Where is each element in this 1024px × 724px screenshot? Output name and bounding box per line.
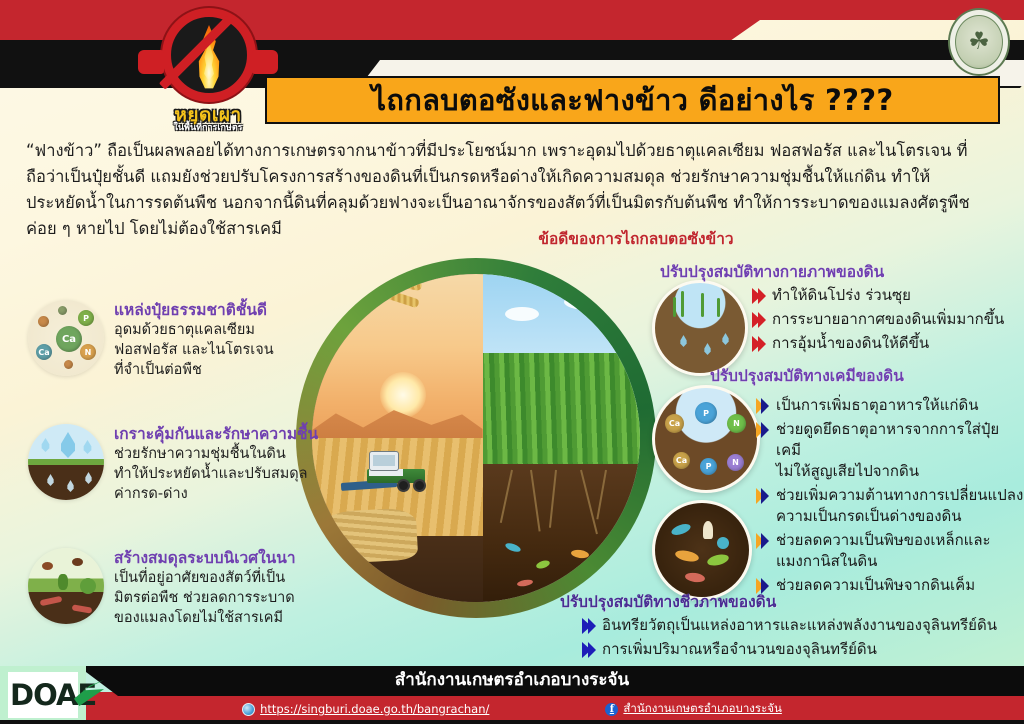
feature-line: เป็นที่อยู่อาศัยของสัตว์ที่เป็น <box>114 568 334 588</box>
page-title: ไถกลบตอซังและฟางข้าว ดีอย่างไร ???? <box>371 77 893 123</box>
earthworm-icon <box>40 596 63 606</box>
harvester-window <box>373 455 395 466</box>
nutrient-n-icon: N <box>727 454 744 471</box>
harvest-scene <box>312 274 483 602</box>
microbe-icon <box>517 579 534 588</box>
feature-text-block: เกราะคุ้มกันและรักษาความชื้น ช่วยรักษาคว… <box>114 424 334 504</box>
footer-facebook-link[interactable]: f สำนักงานเกษตรอำเภอบางระจัน <box>605 700 781 718</box>
arrow-right-icon <box>752 312 765 328</box>
molecule-p: P <box>78 310 94 326</box>
feature-text-block: แหล่งปุ๋ยธรรมชาติชั้นดี อุดมด้วยธาตุแคลเ… <box>114 300 334 380</box>
bullet-item: เป็นการเพิ่มธาตุอาหารให้แก่ดิน <box>756 395 1024 416</box>
garuda-emblem-icon: ☘ <box>968 29 990 53</box>
section-title: ปรับปรุงสมบัติทางกายภาพของดิน <box>660 262 1022 282</box>
title-plate: ไถกลบตอซังและฟางข้าว ดีอย่างไร ???? <box>265 76 1000 124</box>
footer-links: https://singburi.doae.go.th/bangrachan/ … <box>0 696 1024 722</box>
arrow-right-icon <box>752 336 765 352</box>
bacteria-icon <box>684 572 705 584</box>
molecule-node <box>38 316 49 327</box>
hand-right-icon <box>252 50 278 74</box>
arrow-right-icon <box>752 288 765 304</box>
root <box>500 470 513 523</box>
globe-icon <box>242 703 255 716</box>
water-droplet-icon <box>40 438 51 452</box>
arrow-right-icon <box>756 398 769 414</box>
bullet-label: ความเป็นกรดเป็นด่างของดิน <box>776 506 962 527</box>
no-burning-icon <box>162 8 256 102</box>
hand-left-icon <box>138 50 164 74</box>
bacteria-icon <box>706 552 730 567</box>
bullet-label: ทำให้ดินโปร่ง ร่วนซุย <box>772 285 911 306</box>
footer-office-name: สำนักงานเกษตรอำเภอบางระจัน <box>0 666 1024 694</box>
feature-line: มิตรต่อพืช ช่วยลดการระบาด <box>114 588 334 608</box>
bullet-item: ช่วยเพิ่มความต้านทางการเปลี่ยนแปลง <box>756 485 1024 506</box>
bullet-item-continued: แมงกานิสในดิน <box>756 551 1024 572</box>
plant-icon <box>58 574 68 590</box>
bullet-item: ทำให้ดินโปร่ง ร่วนซุย <box>752 285 1022 306</box>
molecule-node <box>64 360 73 369</box>
molecule-ca: Ca <box>56 326 82 352</box>
bullet-label: ไม่ให้สูญเสียไปจากดิน <box>776 461 919 482</box>
ecosystem-insects-icon <box>28 548 104 624</box>
bullet-item: การระบายอากาศของดินเพิ่มมากขึ้น <box>752 309 1022 330</box>
rice-ear <box>346 263 402 274</box>
feature-title: เกราะคุ้มกันและรักษาความชื้น <box>114 424 334 444</box>
nutrient-p-icon: P <box>700 458 717 475</box>
bullet-label: แมงกานิสในดิน <box>776 551 877 572</box>
insect-icon <box>72 558 83 566</box>
arrow-right-icon <box>582 618 595 634</box>
bacteria-icon <box>670 522 692 537</box>
microbe-icon <box>535 559 550 570</box>
bullet-list: ทำให้ดินโปร่ง ร่วนซุย การระบายอากาศของดิ… <box>752 285 1022 354</box>
water-droplet-soil-icon <box>28 424 104 500</box>
arrow-right-icon <box>756 422 769 438</box>
feature-line: ช่วยรักษาความชุ่มชื้นในดิน <box>114 444 334 464</box>
feature-line: อุดมด้วยธาตุแคลเซียม <box>114 320 334 340</box>
footer: DOAE สำนักงานเกษตรอำเภอบางระจัน https://… <box>0 666 1024 724</box>
section-soil-physical: ปรับปรุงสมบัติทางกายภาพของดิน ทำให้ดินโป… <box>660 262 1022 354</box>
bullet-item: อินทรียวัตถุเป็นแหล่งอาหารและแหล่งพลังงา… <box>582 615 1024 636</box>
department-seal: ☘ <box>948 8 1010 76</box>
mushroom-icon <box>703 521 713 539</box>
benefits-section-header: ข้อดีของการไถกลบตอซังข้าว <box>496 226 776 251</box>
microbe-icon <box>717 537 729 549</box>
nutrient-n-icon: N <box>727 414 746 433</box>
feature-line: ที่จำเป็นต่อพืช <box>114 360 334 380</box>
root <box>597 470 608 520</box>
bullet-label: อินทรียวัตถุเป็นแหล่งอาหารและแหล่งพลังงา… <box>602 615 997 636</box>
molecule-n: N <box>80 344 96 360</box>
section-soil-biological: ปรับปรุงสมบัติทางชีวภาพของดิน อินทรียวัต… <box>560 592 1024 660</box>
feature-text-block: สร้างสมดุลระบบนิเวศในนา เป็นที่อยู่อาศัย… <box>114 548 334 628</box>
water-droplet-icon <box>58 432 78 458</box>
bullet-label: ช่วยลดความเป็นพิษของเหล็กและ <box>776 530 991 551</box>
section-soil-chemical: ปรับปรุงสมบัติทางเคมีของดิน <box>710 366 1024 386</box>
water-droplet-icon <box>82 440 93 454</box>
facebook-icon: f <box>605 703 618 716</box>
water-droplet-icon <box>66 480 75 492</box>
molecule-ca2: Ca <box>36 344 52 360</box>
harvester-wheel <box>413 479 426 492</box>
microbe-icon <box>504 542 521 554</box>
bullet-label: ช่วยดูดยึดธาตุอาหารจากการใส่ปุ๋ยเคมี <box>776 419 1024 461</box>
nutrient-molecule-icon: Ca P N Ca <box>28 300 104 376</box>
soil-biological-icon <box>652 500 752 600</box>
root <box>580 469 598 534</box>
bullet-label: ช่วยเพิ่มความต้านทางการเปลี่ยนแปลง <box>776 485 1023 506</box>
bullet-label: การเพิ่มปริมาณหรือจำนวนของจุลินทรีย์ดิน <box>602 639 877 660</box>
combine-harvester-icon <box>363 451 435 491</box>
living-paddy-scene <box>483 274 640 602</box>
earthworm-icon <box>72 604 93 613</box>
soil-layer-right <box>483 464 640 602</box>
no-burning-logo: หยุดเผา ในพื้นที่การเกษตร <box>140 4 276 132</box>
footer-facebook-label: สำนักงานเกษตรอำเภอบางระจัน <box>623 700 781 718</box>
harvester-wheel <box>397 479 410 492</box>
center-illustration <box>296 250 696 630</box>
tree-icon <box>80 578 96 594</box>
footer-website-link[interactable]: https://singburi.doae.go.th/bangrachan/ <box>242 702 489 716</box>
water-droplet-icon <box>84 472 93 484</box>
molecule-node <box>58 306 67 315</box>
microbe-icon <box>599 566 612 579</box>
root <box>549 470 557 528</box>
section-soil-chemical-bullets: เป็นการเพิ่มธาตุอาหารให้แก่ดิน ช่วยดูดยึ… <box>756 392 1024 596</box>
arrow-right-icon <box>582 642 595 658</box>
bullet-item: ช่วยดูดยึดธาตุอาหารจากการใส่ปุ๋ยเคมี <box>756 419 1024 461</box>
cloud-icon <box>564 294 610 310</box>
insect-icon <box>42 562 53 570</box>
soil-chemical-icon: Ca P N Ca P N <box>652 385 760 493</box>
feature-title: สร้างสมดุลระบบนิเวศในนา <box>114 548 334 568</box>
feature-line: ของแมลงโดยไม่ใช้สารเคมี <box>114 608 334 628</box>
nutrient-p-icon: P <box>695 402 717 424</box>
bullet-item: ช่วยลดความเป็นพิษของเหล็กและ <box>756 530 1024 551</box>
logo-line2: ในพื้นที่การเกษตร <box>140 120 276 134</box>
bullet-item-continued: ความเป็นกรดเป็นด่างของดิน <box>756 506 1024 527</box>
feature-line: ฟอสฟอรัส และไนโตรเจน <box>114 340 334 360</box>
water-droplet-icon <box>46 474 55 486</box>
section-title: ปรับปรุงสมบัติทางเคมีของดิน <box>710 366 1024 386</box>
harvester-cab <box>369 451 399 471</box>
footer-website-label: https://singburi.doae.go.th/bangrachan/ <box>260 702 489 716</box>
infographic-page: หยุดเผา ในพื้นที่การเกษตร ไถกลบตอซังและฟ… <box>0 0 1024 724</box>
bacteria-icon <box>674 549 700 564</box>
arrow-right-icon <box>756 488 769 504</box>
green-rice-plants <box>483 353 640 471</box>
bullet-item: การอุ้มน้ำของดินให้ดีขึ้น <box>752 333 1022 354</box>
bullet-label: เป็นการเพิ่มธาตุอาหารให้แก่ดิน <box>776 395 978 416</box>
feature-line: ทำให้ประหยัดน้ำและปรับสมดุล <box>114 464 334 484</box>
feature-line: ค่ากรด-ด่าง <box>114 484 334 504</box>
arrow-right-icon <box>756 533 769 549</box>
bullet-item-continued: ไม่ให้สูญเสียไปจากดิน <box>756 461 1024 482</box>
bullet-list: อินทรียวัตถุเป็นแหล่งอาหารและแหล่งพลังงา… <box>582 615 1024 660</box>
footer-bottom-line <box>0 720 1024 724</box>
illustration-ring <box>296 258 656 618</box>
cloud-icon <box>505 307 539 321</box>
bullet-label: การอุ้มน้ำของดินให้ดีขึ้น <box>772 333 929 354</box>
nutrient-ca-icon: Ca <box>665 414 684 433</box>
microbe-icon <box>570 548 589 558</box>
feature-title: แหล่งปุ๋ยธรรมชาติชั้นดี <box>114 300 334 320</box>
bullet-label: การระบายอากาศของดินเพิ่มมากขึ้น <box>772 309 1004 330</box>
nutrient-ca-icon: Ca <box>673 452 690 469</box>
bullet-item: การเพิ่มปริมาณหรือจำนวนของจุลินทรีย์ดิน <box>582 639 1024 660</box>
section-title: ปรับปรุงสมบัติทางชีวภาพของดิน <box>560 592 1024 612</box>
root <box>530 470 541 532</box>
